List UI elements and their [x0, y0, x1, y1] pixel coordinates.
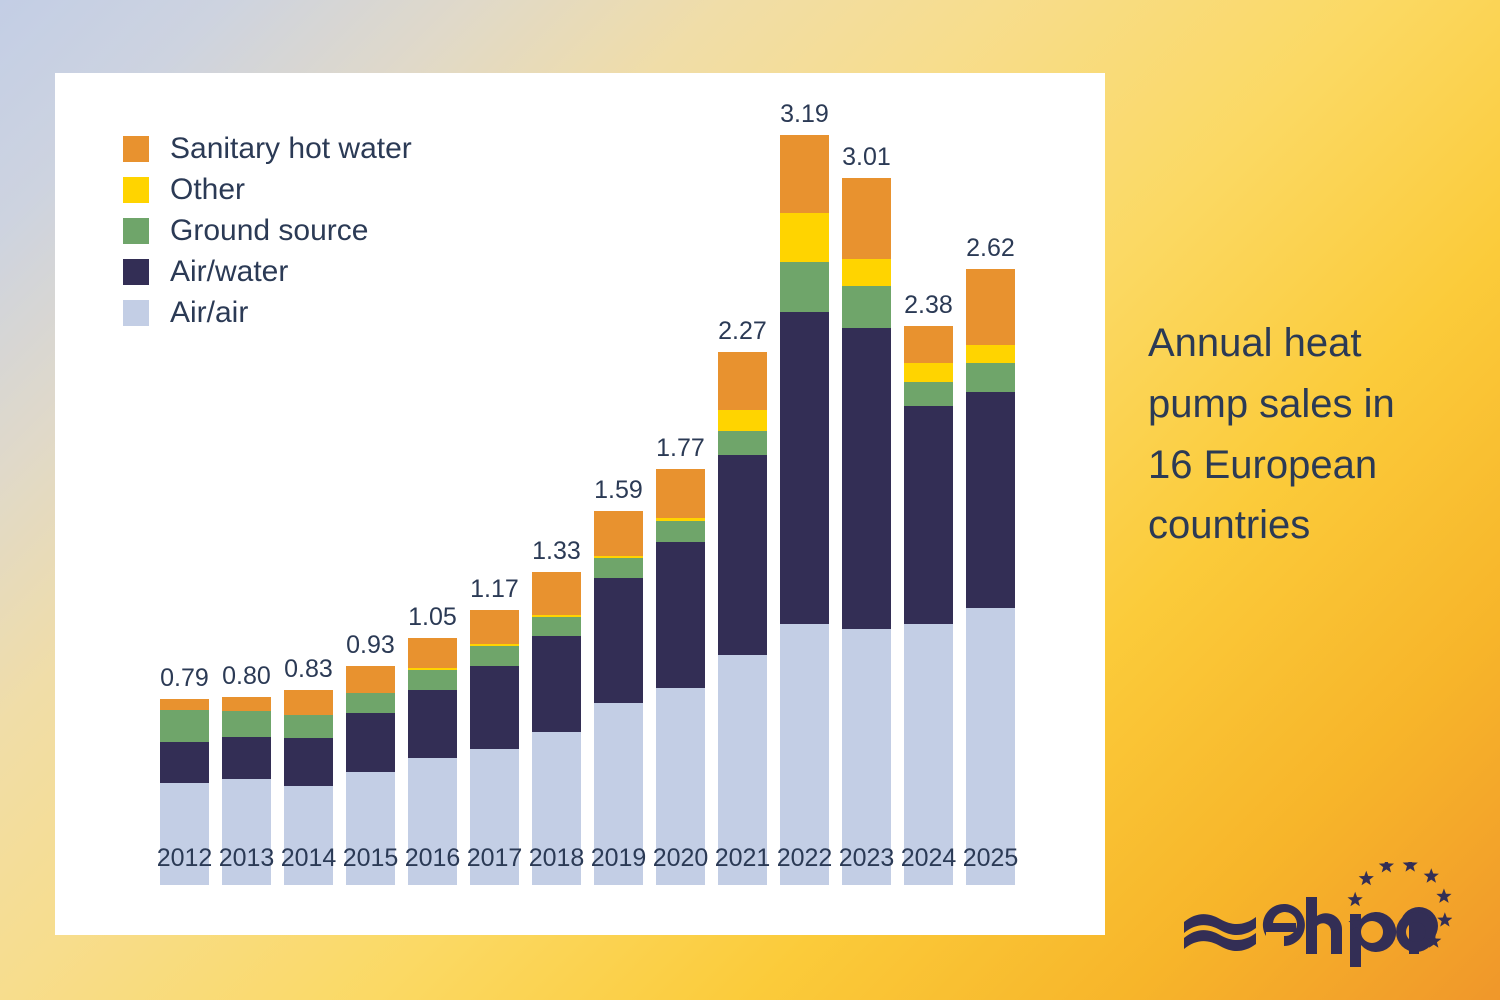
legend-item-label: Other: [170, 175, 245, 205]
legend-item-ground_source[interactable]: Ground source: [123, 210, 412, 251]
bar-segment-ground-source: [842, 286, 891, 328]
bar-segment-other: [780, 213, 829, 262]
page-title: Annual heatpump sales in16 Europeancount…: [1148, 313, 1448, 556]
bar-segment-air-water: [532, 636, 581, 732]
bar-total-label: 0.93: [330, 631, 411, 660]
bar-stack: [842, 178, 891, 885]
legend-item-sanitary_hot_water[interactable]: Sanitary hot water: [123, 128, 412, 169]
ehpa-logo: [1182, 862, 1452, 967]
bar-segment-sanitary-hot-water: [842, 178, 891, 259]
bar-segment-other: [966, 345, 1015, 364]
page-title-line-2: pump sales in: [1148, 374, 1448, 435]
bar-segment-sanitary-hot-water: [594, 511, 643, 556]
legend-swatch-icon-ground_source: [123, 218, 149, 244]
bar-segment-ground-source: [966, 363, 1015, 391]
legend-swatch-icon-other: [123, 177, 149, 203]
bar-stack: [594, 511, 643, 885]
bar-segment-air-water: [160, 742, 209, 783]
legend-item-other[interactable]: Other: [123, 169, 412, 210]
bar-segment-sanitary-hot-water: [780, 135, 829, 213]
bar-total-label: 2.38: [888, 291, 969, 320]
bar-stack: [904, 326, 953, 885]
bar-segment-ground-source: [594, 558, 643, 578]
legend-item-air_water[interactable]: Air/water: [123, 251, 412, 292]
bar-segment-air-water: [346, 713, 395, 772]
bar-total-label: 1.17: [454, 575, 535, 604]
bar-total-label: 2.27: [702, 317, 783, 346]
bar-total-label: 3.01: [826, 143, 907, 172]
bar-segment-sanitary-hot-water: [408, 638, 457, 667]
bar-segment-sanitary-hot-water: [160, 699, 209, 710]
legend-item-label: Air/air: [170, 298, 248, 328]
x-axis-tick-2025: 2025: [950, 844, 1031, 873]
bar-segment-sanitary-hot-water: [284, 690, 333, 715]
bar-segment-ground-source: [780, 262, 829, 311]
bar-segment-air-water: [656, 542, 705, 688]
legend-swatch-icon-air_air: [123, 300, 149, 326]
bar-segment-air-water: [904, 406, 953, 625]
bar-segment-sanitary-hot-water: [656, 469, 705, 518]
bar-segment-air-water: [594, 578, 643, 703]
bar-segment-air-water: [284, 738, 333, 786]
bar-total-label: 1.33: [516, 537, 597, 566]
bar-segment-ground-source: [284, 715, 333, 739]
bar-segment-other: [904, 363, 953, 382]
page-title-line-3: 16 European: [1148, 435, 1448, 496]
bar-total-label: 1.59: [578, 476, 659, 505]
bar-segment-ground-source: [656, 521, 705, 542]
legend-item-air_air[interactable]: Air/air: [123, 292, 412, 333]
legend-item-label: Sanitary hot water: [170, 134, 412, 164]
bar-total-label: 2.62: [950, 234, 1031, 263]
bar-segment-ground-source: [222, 711, 271, 737]
bar-segment-sanitary-hot-water: [966, 269, 1015, 344]
slide-canvas: 0.7920120.8020130.8320140.9320151.052016…: [0, 0, 1500, 1000]
bar-segment-ground-source: [346, 693, 395, 713]
bar-segment-air-water: [966, 392, 1015, 608]
chart-legend: Sanitary hot waterOtherGround sourceAir/…: [123, 128, 412, 333]
bar-segment-air-water: [718, 455, 767, 655]
bar-segment-sanitary-hot-water: [470, 610, 519, 644]
legend-item-label: Ground source: [170, 216, 368, 246]
legend-swatch-icon-air_water: [123, 259, 149, 285]
bar-segment-other: [842, 259, 891, 286]
bar-segment-sanitary-hot-water: [532, 572, 581, 614]
bar-total-label: 3.19: [764, 100, 845, 129]
bar-segment-ground-source: [904, 382, 953, 406]
legend-swatch-icon-sanitary_hot_water: [123, 136, 149, 162]
bar-segment-air-water: [222, 737, 271, 779]
bar-total-label: 1.05: [392, 603, 473, 632]
bar-segment-sanitary-hot-water: [718, 352, 767, 411]
bar-segment-air-water: [408, 690, 457, 758]
chart-panel: 0.7920120.8020130.8320140.9320151.052016…: [55, 73, 1105, 935]
bar-segment-sanitary-hot-water: [904, 326, 953, 364]
bar-stack: [532, 572, 581, 885]
bar-segment-ground-source: [470, 646, 519, 666]
bar-stack: [656, 469, 705, 885]
bar-stack: [780, 135, 829, 885]
legend-item-label: Air/water: [170, 257, 288, 287]
bar-segment-other: [718, 410, 767, 431]
bar-segment-ground-source: [532, 617, 581, 636]
bar-segment-air-water: [780, 312, 829, 625]
bar-stack: [718, 352, 767, 885]
bar-segment-air-water: [470, 666, 519, 748]
bar-segment-ground-source: [160, 710, 209, 742]
bar-segment-ground-source: [408, 670, 457, 690]
bar-segment-air-water: [842, 328, 891, 629]
page-title-line-4: countries: [1148, 495, 1448, 556]
page-title-line-1: Annual heat: [1148, 313, 1448, 374]
bar-total-label: 1.77: [640, 434, 721, 463]
bar-segment-sanitary-hot-water: [346, 666, 395, 693]
bar-segment-ground-source: [718, 431, 767, 455]
bar-stack: [966, 269, 1015, 885]
bar-segment-sanitary-hot-water: [222, 697, 271, 711]
